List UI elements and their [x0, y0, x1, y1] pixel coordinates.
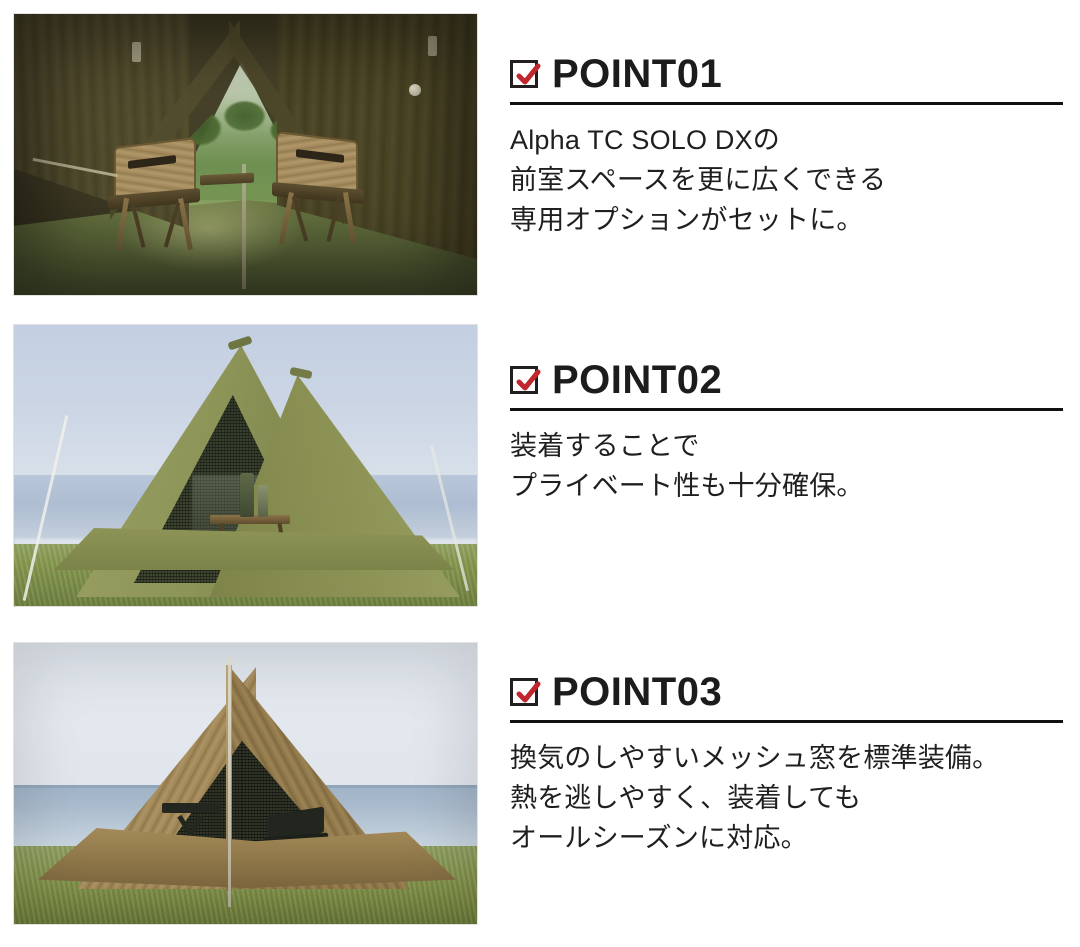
checked-checkbox-icon: [510, 678, 538, 706]
body-line: 熱を逃しやすく、装着しても: [510, 779, 1064, 819]
body-line: 装着することで: [510, 427, 1064, 467]
photo-olive-a-frame-tent-by-the-sea: [13, 324, 478, 607]
body-line: 専用オプションがセットに。: [510, 201, 1064, 241]
checked-checkbox-icon: [510, 60, 538, 88]
body-line: プライベート性も十分確保。: [510, 467, 1064, 507]
point-section-02: POINT02 装着することで プライベート性も十分確保。: [0, 324, 1080, 607]
heading-divider-03: [510, 720, 1063, 723]
photo-tent-interior-with-two-camp-chairs: [13, 13, 478, 296]
point-text-column-01: POINT01 Alpha TC SOLO DXの 前室スペースを更に広くできる…: [510, 13, 1064, 241]
point-section-01: POINT01 Alpha TC SOLO DXの 前室スペースを更に広くできる…: [0, 13, 1080, 296]
body-line: 前室スペースを更に広くできる: [510, 161, 1064, 201]
feature-points-page: POINT01 Alpha TC SOLO DXの 前室スペースを更に広くできる…: [0, 0, 1080, 947]
photo-vignette: [14, 14, 477, 295]
checked-checkbox-icon: [510, 366, 538, 394]
point-title-01: POINT01: [552, 54, 722, 94]
point-title-03: POINT03: [552, 672, 722, 712]
point-body-02: 装着することで プライベート性も十分確保。: [510, 427, 1064, 507]
photo-vignette: [14, 643, 477, 924]
water-bottle: [240, 473, 254, 517]
heading-divider-02: [510, 408, 1063, 411]
point-body-03: 換気のしやすいメッシュ窓を標準装備。 熱を逃しやすく、装着しても オールシーズン…: [510, 739, 1064, 859]
point-heading-02: POINT02: [510, 360, 1064, 400]
point-body-01: Alpha TC SOLO DXの 前室スペースを更に広くできる 専用オプション…: [510, 121, 1064, 241]
body-line: Alpha TC SOLO DXの: [510, 121, 1064, 161]
point-title-02: POINT02: [552, 360, 722, 400]
photo-tan-pyramid-tent-with-mesh-windows: [13, 642, 478, 925]
thermos-cup: [258, 485, 268, 517]
point-heading-01: POINT01: [510, 54, 1064, 94]
point-text-column-03: POINT03 換気のしやすいメッシュ窓を標準装備。 熱を逃しやすく、装着しても…: [510, 642, 1064, 859]
point-text-column-02: POINT02 装着することで プライベート性も十分確保。: [510, 324, 1064, 507]
body-line: オールシーズンに対応。: [510, 819, 1064, 859]
body-line: 換気のしやすいメッシュ窓を標準装備。: [510, 739, 1064, 779]
heading-divider-01: [510, 102, 1063, 105]
point-section-03: POINT03 換気のしやすいメッシュ窓を標準装備。 熱を逃しやすく、装着しても…: [0, 642, 1080, 926]
point-heading-03: POINT03: [510, 672, 1064, 712]
